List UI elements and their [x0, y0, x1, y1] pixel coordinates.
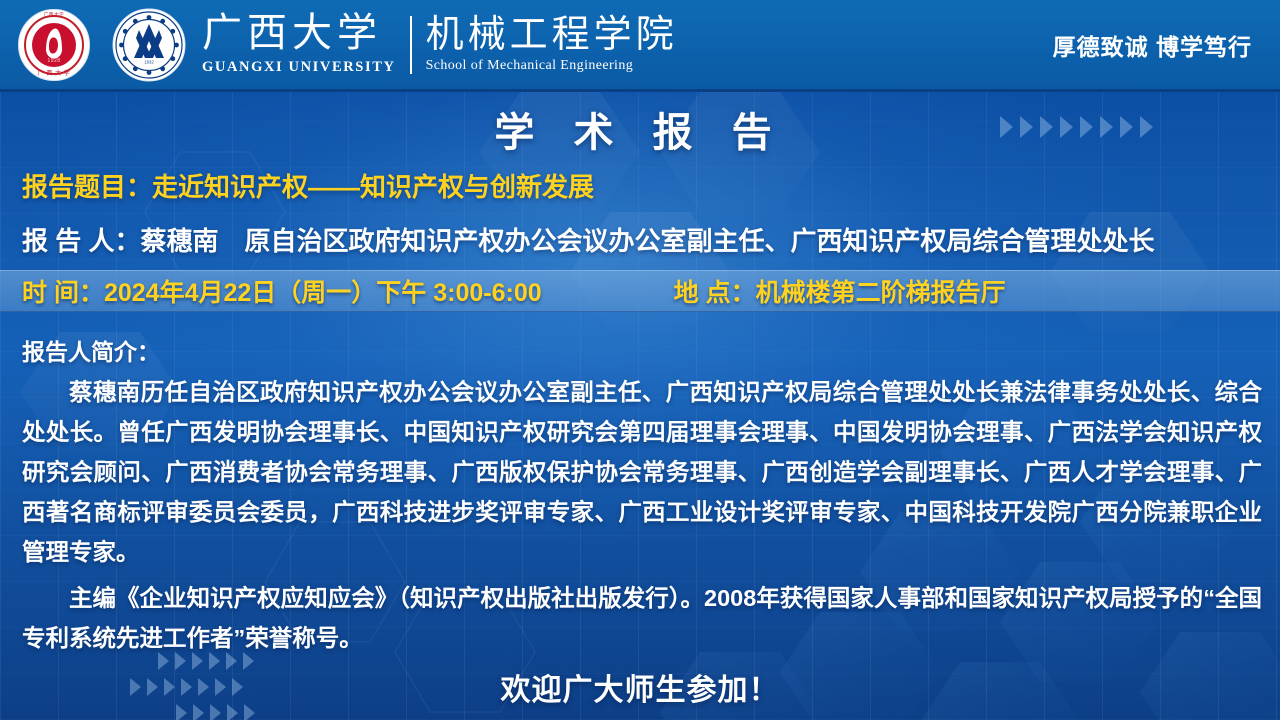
speaker-label: 报 告 人： — [22, 226, 140, 256]
university-name-cn: 广西大学 — [202, 13, 396, 53]
time-label: 时 间： — [22, 279, 104, 307]
university-motto: 厚德致诚 博学笃行 — [1053, 28, 1262, 62]
lecture-place: 地 点：机械楼第二阶梯报告厅 — [674, 273, 1006, 309]
place-label: 地 点： — [674, 279, 756, 307]
topic-value: 走近知识产权——知识产权与创新发展 — [152, 172, 594, 202]
wordmark-divider — [410, 16, 412, 74]
crest-bottom-text: 广 西 大 学 — [18, 68, 90, 77]
lecture-time: 时 间：2024年4月22日（周一）下午 3:00-6:00 — [22, 273, 542, 309]
university-name-en: GUANGXI UNIVERSITY — [202, 59, 396, 76]
speaker-title: 原自治区政府知识产权办公会议办公室副主任、广西知识产权局综合管理处处长 — [244, 226, 1154, 256]
guangxi-university-crest-icon: 广西大学 1928 广 西 大 学 — [18, 9, 90, 81]
place-value: 机械楼第二阶梯报告厅 — [756, 279, 1006, 307]
speaker-name: 蔡穗南 — [140, 226, 218, 256]
svg-text:1932: 1932 — [144, 59, 154, 64]
bio-paragraph-2: 主编《企业知识产权应知应会》（知识产权出版社出版发行）。2008年获得国家人事部… — [22, 578, 1262, 658]
school-of-mechanical-engineering-crest-icon: 1932 — [112, 8, 186, 82]
lecture-speaker-row: 报 告 人：蔡穗南原自治区政府知识产权办公会议办公室副主任、广西知识产权局综合管… — [22, 221, 1154, 258]
academic-lecture-poster: 广西大学 1928 广 西 大 学 — [0, 0, 1280, 720]
lecture-topic-row: 报告题目：走近知识产权——知识产权与创新发展 — [22, 167, 594, 204]
page-title: 学 术 报 告 — [0, 100, 1280, 158]
school-name-cn: 机械工程学院 — [426, 15, 678, 53]
institution-wordmark: 广西大学 GUANGXI UNIVERSITY 机械工程学院 School of… — [202, 13, 678, 76]
speaker-bio-label: 报告人简介： — [22, 333, 160, 367]
topic-label: 报告题目： — [22, 172, 152, 202]
lecture-time-place-bar: 时 间：2024年4月22日（周一）下午 3:00-6:00 地 点：机械楼第二… — [0, 270, 1280, 312]
school-name-en: School of Mechanical Engineering — [426, 58, 678, 74]
crest-arc-text: 广西大学 — [18, 12, 90, 18]
welcome-message: 欢迎广大师生参加！ — [0, 665, 1280, 709]
crest-year: 1928 — [18, 58, 90, 64]
bio-paragraph-1: 蔡穗南历任自治区政府知识产权办公会议办公室副主任、广西知识产权局综合管理处处长兼… — [22, 372, 1262, 572]
poster-title-bar: 学 术 报 告 — [0, 92, 1280, 154]
poster-header: 广西大学 1928 广 西 大 学 — [0, 0, 1280, 92]
speaker-bio-body: 蔡穗南历任自治区政府知识产权办公会议办公室副主任、广西知识产权局综合管理处处长兼… — [22, 372, 1262, 658]
time-value: 2024年4月22日（周一）下午 3:00-6:00 — [104, 279, 542, 307]
